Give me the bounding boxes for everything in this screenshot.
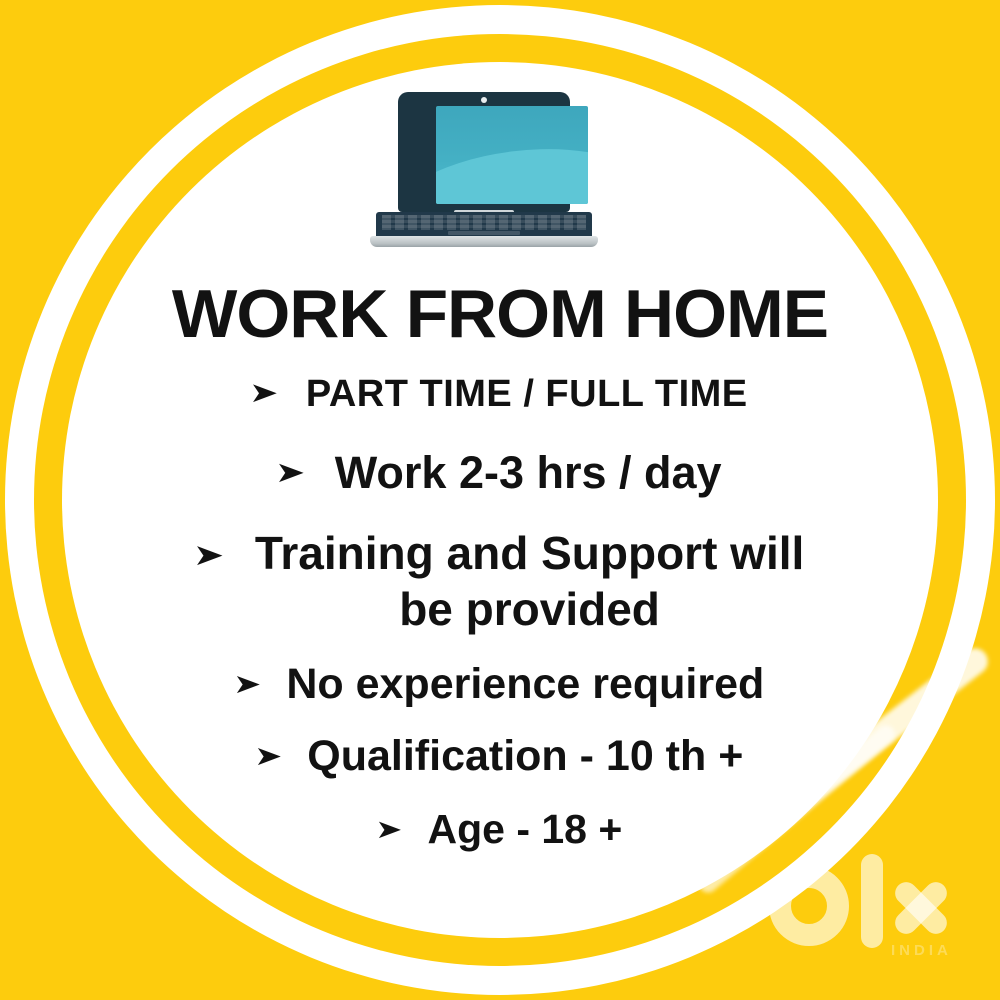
laptop-screen-highlight <box>436 134 588 204</box>
list-item: ➤ PART TIME / FULL TIME <box>0 372 1000 416</box>
laptop-spacebar <box>448 231 520 235</box>
list-item: ➤ Work 2-3 hrs / day <box>0 447 1000 499</box>
arrow-bullet-icon: ➤ <box>275 459 305 488</box>
list-item-label: PART TIME / FULL TIME <box>306 372 748 416</box>
list-item: ➤ Training and Support will be provided <box>0 525 1000 637</box>
list-item: ➤ No experience required <box>0 659 1000 709</box>
list-item: ➤ Age - 18 + <box>0 805 1000 853</box>
list-item-label: No experience required <box>286 659 764 709</box>
list-item: ➤ Qualification - 10 th + <box>0 731 1000 781</box>
laptop-webcam-icon <box>481 97 487 103</box>
list-item-label: Qualification - 10 th + <box>307 731 743 781</box>
laptop-keyboard <box>376 212 592 238</box>
arrow-bullet-icon: ➤ <box>193 541 224 571</box>
page-title: WORK FROM HOME <box>0 278 1000 350</box>
laptop-keys <box>382 215 586 230</box>
list-item-label: Work 2-3 hrs / day <box>335 447 722 499</box>
list-item-label: Training and Support will be provided <box>255 525 804 637</box>
arrow-bullet-icon: ➤ <box>233 671 261 698</box>
arrow-bullet-icon: ➤ <box>375 816 402 842</box>
laptop-icon <box>370 92 598 250</box>
laptop-lid <box>398 92 570 212</box>
benefits-list: ➤ PART TIME / FULL TIME ➤ Work 2-3 hrs /… <box>0 372 1000 853</box>
olx-letter-x-icon <box>889 876 953 940</box>
olx-letter-l-icon <box>861 854 883 948</box>
list-item-label: Age - 18 + <box>427 805 622 853</box>
arrow-bullet-icon: ➤ <box>249 379 278 407</box>
laptop-base <box>370 236 598 247</box>
laptop-screen <box>436 106 588 204</box>
poster-canvas: WORK FROM HOME ➤ PART TIME / FULL TIME ➤… <box>0 0 1000 1000</box>
arrow-bullet-icon: ➤ <box>254 743 282 770</box>
watermark-sublabel: INDIA <box>891 942 952 959</box>
